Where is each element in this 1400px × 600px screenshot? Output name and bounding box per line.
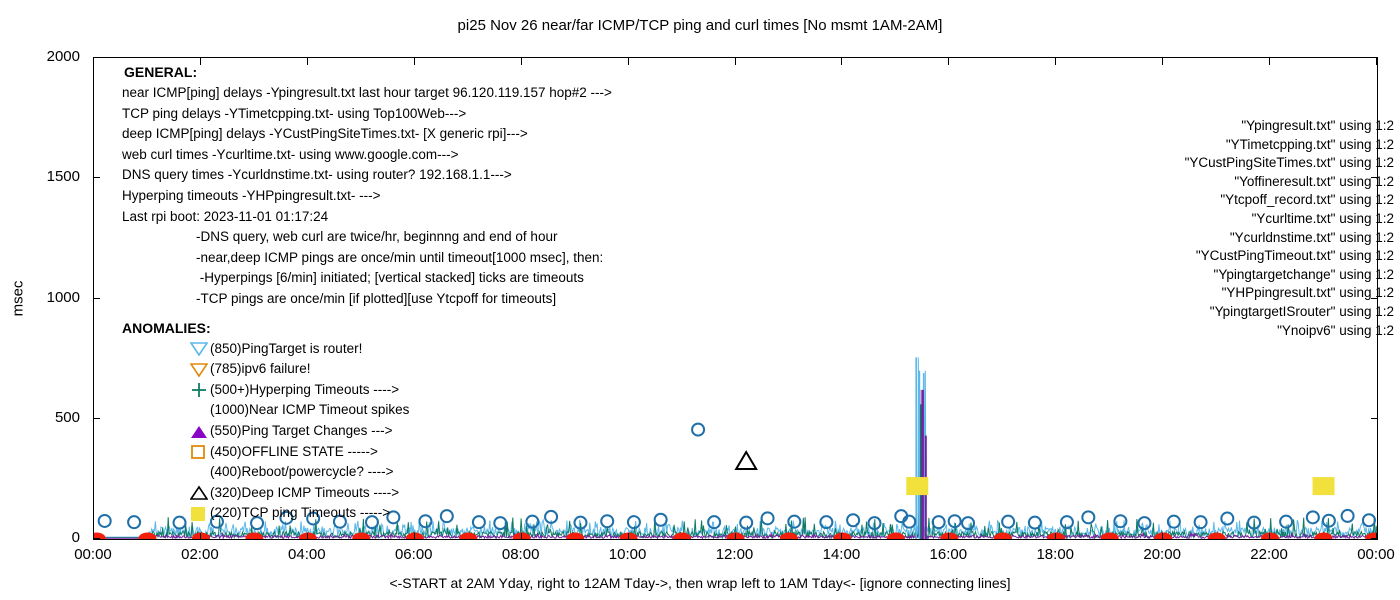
general-line: TCP ping delays -YTimetcpping.txt- using… [122,105,466,124]
y-axis-tick [93,177,100,178]
x-axis-tick [735,533,736,540]
legend-item-label: "Ycurltime.txt" using 1:2 [1252,211,1394,226]
anomaly-label: (1000)Near ICMP Timeout spikes [210,403,409,418]
y-axis-tick [93,298,100,299]
marker-open-circle [494,517,506,529]
marker-open-circle [1002,516,1014,528]
x-axis-tick [521,533,522,540]
legend-item: "Ycurldnstime.txt" using 1:2 [1094,230,1394,249]
legend-item: "Ytcpoff_record.txt" using 1:2 [1094,192,1394,211]
open-triangle-up-icon [190,484,210,503]
legend-item-label: "YTimetcpping.txt" using 1:2 [1226,137,1394,152]
legend-item-label: "Yoffineresult.txt" using 1:2 [1234,174,1394,189]
x-axis-tick-label: 04:00 [267,546,347,563]
legend-item-label: "YpingtargetISrouter" using 1:2 [1210,304,1394,319]
marker-open-circle [740,517,752,529]
open-triangle-down-icon [190,360,210,379]
anomaly-label: (320)Deep ICMP Timeouts ----> [210,485,399,500]
x-axis-tick [200,533,201,540]
legend-item-label: "Ypingresult.txt" using 1:2 [1241,118,1394,133]
y-axis-tick-label: 1500 [34,168,80,185]
x-axis-tick-label: 20:00 [1122,546,1202,563]
anomaly-label: (220)TCP ping Timeouts -----> [210,506,390,521]
legend-item: "Ypingtargetchange" using 1:2 [1094,267,1394,286]
x-axis-tick-label: 08:00 [481,546,561,563]
y-axis-tick [93,57,100,58]
general-line: DNS query times -Ycurldnstime.txt- using… [122,166,512,185]
legend-item: "Ycurltime.txt" using 1:2 [1094,211,1394,230]
x-axis-tick-top [307,58,308,65]
x-axis-tick [93,533,94,540]
legend-item-label: "YCustPingSiteTimes.txt" using 1:2 [1185,155,1394,170]
general-detail-line: -near,deep ICMP pings are once/min until… [196,249,603,268]
legend-item-label: "Ypingtargetchange" using 1:2 [1214,267,1394,282]
marker-open-circle [473,516,485,528]
marker-open-circle [692,424,704,436]
general-line: near ICMP[ping] delays -Ypingresult.txt … [122,84,612,103]
legend: "Ypingresult.txt" using 1:2"YTimetcpping… [1094,118,1394,341]
x-axis-tick-label: 00:00 [53,546,133,563]
marker-open-circle [655,514,667,526]
anomaly-row: (320)Deep ICMP Timeouts ----> [190,484,399,503]
x-axis-tick-label: 22:00 [1229,546,1309,563]
marker-filled-circle [1315,533,1333,539]
x-axis-tick [307,533,308,540]
marker-open-circle [441,510,453,522]
x-axis-tick-top [93,58,94,65]
x-axis-tick-top [1376,58,1377,65]
legend-item: "Ynoipv6" using 1:2 [1094,323,1394,342]
marker-open-circle [128,516,140,528]
marker-open-circle [99,515,111,527]
open-square-icon [190,443,210,462]
y-axis-tick [93,418,100,419]
legend-item-label: "Ycurldnstime.txt" using 1:2 [1230,230,1394,245]
x-axis-tick [1162,533,1163,540]
anomaly-row: (785)ipv6 failure! [190,360,311,379]
x-axis-tick-top [414,58,415,65]
anomalies-heading: ANOMALIES: [122,319,211,338]
x-axis-tick [948,533,949,540]
legend-item-label: "Ytcpoff_record.txt" using 1:2 [1220,192,1394,207]
anomaly-label: (850)PingTarget is router! [210,341,362,356]
general-line: Last rpi boot: 2023-11-01 01:17:24 [122,208,328,227]
filled-square-icon [190,505,210,524]
general-detail-line: -TCP pings are once/min [if plotted][use… [196,290,556,309]
x-axis-tick-label: 12:00 [695,546,775,563]
anomaly-row: (400)Reboot/powercycle? ----> [190,463,393,482]
x-axis-tick [841,533,842,540]
x-axis-tick-label: 16:00 [908,546,988,563]
y-axis-title: msec [10,269,27,329]
x-axis-tick-label: 14:00 [801,546,881,563]
marker-open-triangle-up [736,452,756,469]
marker-open-circle [1138,517,1150,529]
anomaly-label: (500+)Hyperping Timeouts ----> [210,382,399,397]
marker-open-circle [820,516,832,528]
general-line: deep ICMP[ping] delays -YCustPingSiteTim… [122,125,528,144]
marker-open-circle [1082,511,1094,523]
marker-open-circle [174,517,186,529]
anomaly-row: (1000)Near ICMP Timeout spikes [190,401,409,420]
y-axis-tick [93,538,100,539]
x-axis-tick [1269,533,1270,540]
x-axis-tick-top [1269,58,1270,65]
open-triangle-down-icon [190,340,210,359]
x-axis-tick-top [1055,58,1056,65]
legend-item: "Yoffineresult.txt" using 1:2 [1094,174,1394,193]
legend-item: "YCustPingSiteTimes.txt" using 1:2 [1094,155,1394,174]
x-axis-tick-label: 06:00 [374,546,454,563]
x-axis-tick-top [521,58,522,65]
marker-open-circle [933,516,945,528]
y-axis-tick-right [1371,298,1378,299]
plus-icon [190,381,210,400]
x-axis-caption: <-START at 2AM Yday, right to 12AM Tday-… [0,575,1400,591]
general-line: Hyperping timeouts -YHPpingresult.txt- -… [122,187,380,206]
legend-item-label: "YCustPingTimeout.txt" using 1:2 [1196,248,1394,263]
general-line: web curl times -Ycurltime.txt- using www… [122,146,458,165]
y-axis-tick-label: 0 [34,529,80,546]
x-axis-tick-label: 02:00 [160,546,240,563]
legend-item: "YHPpingresult.txt" using 1:2+ [1094,285,1394,304]
chart-title: pi25 Nov 26 near/far ICMP/TCP ping and c… [0,17,1400,34]
legend-item: "YpingtargetISrouter" using 1:2 [1094,304,1394,323]
anomaly-label: (400)Reboot/powercycle? ----> [210,464,393,479]
filled-triangle-up-icon [190,422,210,441]
legend-item-label: "Ynoipv6" using 1:2 [1277,323,1394,338]
anomaly-label: (450)OFFLINE STATE -----> [210,444,378,459]
marker-open-circle [847,514,859,526]
legend-item: "YCustPingTimeout.txt" using 1:2 [1094,248,1394,267]
anomaly-row: (500+)Hyperping Timeouts ----> [190,381,399,400]
marker-filled-square [1313,477,1335,495]
marker-open-circle [601,515,613,527]
marker-open-circle [419,515,431,527]
x-axis-tick [628,533,629,540]
marker-open-circle [1307,511,1319,523]
marker-open-circle [1342,510,1354,522]
x-axis-tick-top [841,58,842,65]
anomaly-label: (550)Ping Target Changes ---> [210,423,392,438]
x-axis-tick [1376,533,1377,540]
anomaly-row: (220)TCP ping Timeouts -----> [190,504,390,523]
legend-item-label: "YHPpingresult.txt" using 1:2 [1222,285,1394,300]
x-axis-tick-label: 18:00 [1015,546,1095,563]
anomaly-row: (850)PingTarget is router! [190,340,362,359]
general-detail-line: -DNS query, web curl are twice/hr, begin… [196,228,557,247]
y-axis-tick-label: 2000 [34,48,80,65]
x-axis-tick-top [735,58,736,65]
y-axis-tick-label: 1000 [34,289,80,306]
marker-open-circle [962,517,974,529]
x-axis-tick-label: 00:00 [1336,546,1400,563]
y-axis-tick-right [1371,177,1378,178]
legend-item: "Ypingresult.txt" using 1:2 [1094,118,1394,137]
chart-page: pi25 Nov 26 near/far ICMP/TCP ping and c… [0,0,1400,600]
x-axis-tick-top [628,58,629,65]
x-axis-tick-top [1162,58,1163,65]
marker-open-circle [1061,516,1073,528]
marker-open-circle [1221,513,1233,525]
x-axis-tick-top [200,58,201,65]
legend-item: "YTimetcpping.txt" using 1:2 [1094,137,1394,156]
x-axis-tick-label: 10:00 [588,546,668,563]
x-axis-tick-top [948,58,949,65]
general-detail-line: -Hyperpings [6/min] initiated; [vertical… [196,269,584,288]
anomaly-row: (550)Ping Target Changes ---> [190,422,392,441]
marker-open-circle [1195,516,1207,528]
general-heading: GENERAL: [124,63,197,82]
y-axis-tick-right [1371,418,1378,419]
anomaly-row: (450)OFFLINE STATE -----> [190,443,378,462]
marker-open-circle [762,512,774,524]
anomaly-label: (785)ipv6 failure! [210,361,311,376]
x-axis-tick [414,533,415,540]
y-axis-tick-label: 500 [34,409,80,426]
marker-filled-square [906,477,928,495]
x-axis-tick [1055,533,1056,540]
marker-open-circle [628,516,640,528]
marker-open-circle [1363,514,1375,526]
marker-open-circle [1029,517,1041,529]
